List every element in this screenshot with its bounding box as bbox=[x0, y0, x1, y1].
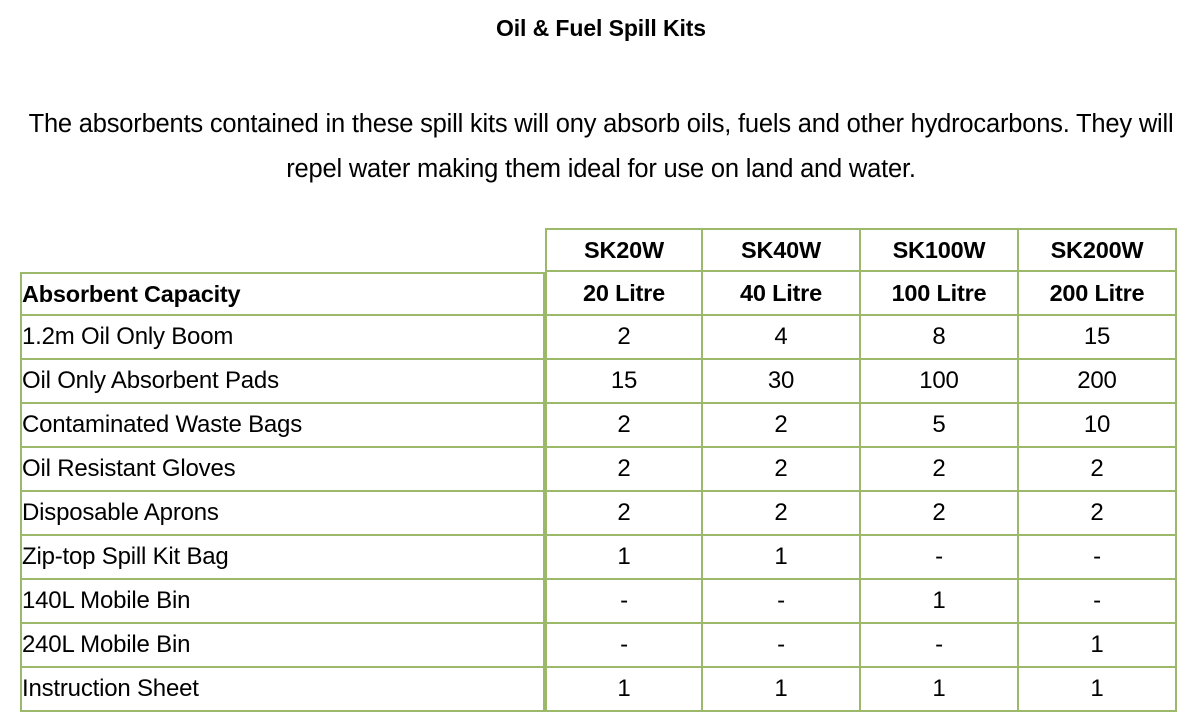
column-header-sk20w: SK20W bbox=[545, 228, 703, 272]
row-cell: 200 bbox=[1019, 360, 1177, 404]
row-cell: 1 bbox=[1019, 668, 1177, 712]
table-body: SK20W SK40W SK100W SK200W Absorbent Capa… bbox=[20, 228, 1177, 712]
row-cell: 2 bbox=[1019, 492, 1177, 536]
row-cell: - bbox=[861, 536, 1019, 580]
row-label: Oil Resistant Gloves bbox=[20, 448, 545, 492]
row-cell: 30 bbox=[703, 360, 861, 404]
row-cell: 2 bbox=[545, 492, 703, 536]
table-row: Oil Only Absorbent Pads 15 30 100 200 bbox=[20, 360, 1177, 404]
row-cell: - bbox=[703, 624, 861, 668]
row-cell: 15 bbox=[1019, 316, 1177, 360]
row-cell: - bbox=[1019, 536, 1177, 580]
row-cell: 2 bbox=[1019, 448, 1177, 492]
row-label: 140L Mobile Bin bbox=[20, 580, 545, 624]
row-label: Oil Only Absorbent Pads bbox=[20, 360, 545, 404]
page-title: Oil & Fuel Spill Kits bbox=[0, 14, 1202, 42]
row-cell: - bbox=[1019, 580, 1177, 624]
column-header-sk200w: SK200W bbox=[1019, 228, 1177, 272]
row-cell: 2 bbox=[545, 404, 703, 448]
row-cell: 2 bbox=[703, 492, 861, 536]
capacity-sk200w: 200 Litre bbox=[1019, 272, 1177, 316]
row-cell: 1 bbox=[703, 536, 861, 580]
table-row: Contaminated Waste Bags 2 2 5 10 bbox=[20, 404, 1177, 448]
row-label: Disposable Aprons bbox=[20, 492, 545, 536]
row-cell: 1 bbox=[861, 580, 1019, 624]
row-label: Contaminated Waste Bags bbox=[20, 404, 545, 448]
row-label: Instruction Sheet bbox=[20, 668, 545, 712]
table-row: Oil Resistant Gloves 2 2 2 2 bbox=[20, 448, 1177, 492]
row-cell: 100 bbox=[861, 360, 1019, 404]
row-cell: - bbox=[861, 624, 1019, 668]
capacity-sk40w: 40 Litre bbox=[703, 272, 861, 316]
spill-kit-comparison-table: SK20W SK40W SK100W SK200W Absorbent Capa… bbox=[20, 228, 1177, 712]
row-cell: 1 bbox=[1019, 624, 1177, 668]
row-label: Zip-top Spill Kit Bag bbox=[20, 536, 545, 580]
row-cell: 1 bbox=[545, 668, 703, 712]
table-row: 140L Mobile Bin - - 1 - bbox=[20, 580, 1177, 624]
row-cell: 10 bbox=[1019, 404, 1177, 448]
column-header-sk100w: SK100W bbox=[861, 228, 1019, 272]
row-cell: 1 bbox=[703, 668, 861, 712]
capacity-sk20w: 20 Litre bbox=[545, 272, 703, 316]
row-cell: 15 bbox=[545, 360, 703, 404]
row-cell: - bbox=[545, 580, 703, 624]
table-row-absorbent-capacity: Absorbent Capacity 20 Litre 40 Litre 100… bbox=[20, 272, 1177, 316]
row-cell: 4 bbox=[703, 316, 861, 360]
row-cell: 1 bbox=[861, 668, 1019, 712]
table-row: Instruction Sheet 1 1 1 1 bbox=[20, 668, 1177, 712]
model-row-empty-corner bbox=[20, 228, 545, 272]
spill-kit-spec-page: Oil & Fuel Spill Kits The absorbents con… bbox=[0, 0, 1202, 720]
row-cell: 2 bbox=[861, 448, 1019, 492]
intro-paragraph: The absorbents contained in these spill … bbox=[26, 102, 1176, 192]
row-cell: 2 bbox=[861, 492, 1019, 536]
table-row: Disposable Aprons 2 2 2 2 bbox=[20, 492, 1177, 536]
row-label: 240L Mobile Bin bbox=[20, 624, 545, 668]
row-label: 1.2m Oil Only Boom bbox=[20, 316, 545, 360]
row-cell: 2 bbox=[545, 316, 703, 360]
row-cell: 2 bbox=[703, 448, 861, 492]
column-header-sk40w: SK40W bbox=[703, 228, 861, 272]
row-cell: - bbox=[545, 624, 703, 668]
row-cell: 2 bbox=[703, 404, 861, 448]
row-cell: 1 bbox=[545, 536, 703, 580]
row-cell: - bbox=[703, 580, 861, 624]
row-cell: 5 bbox=[861, 404, 1019, 448]
capacity-sk100w: 100 Litre bbox=[861, 272, 1019, 316]
table-row: 240L Mobile Bin - - - 1 bbox=[20, 624, 1177, 668]
table-row-models: SK20W SK40W SK100W SK200W bbox=[20, 228, 1177, 272]
table-row: 1.2m Oil Only Boom 2 4 8 15 bbox=[20, 316, 1177, 360]
row-cell: 2 bbox=[545, 448, 703, 492]
table-row: Zip-top Spill Kit Bag 1 1 - - bbox=[20, 536, 1177, 580]
row-cell: 8 bbox=[861, 316, 1019, 360]
row-header-absorbent-capacity: Absorbent Capacity bbox=[20, 272, 545, 316]
